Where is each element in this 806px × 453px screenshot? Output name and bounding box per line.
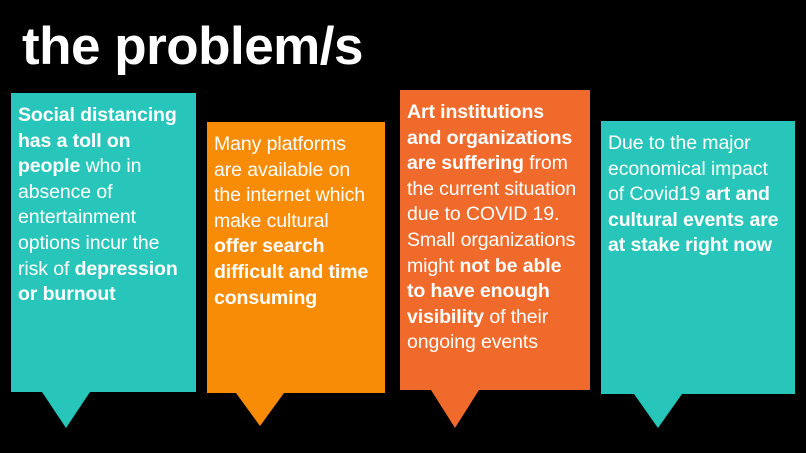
problem-card-4: Due to the major economical impact of Co… <box>601 121 795 394</box>
problem-card-3-text: Art institutions and organizations are s… <box>407 100 581 356</box>
problem-card-3-pointer <box>431 390 479 428</box>
problem-card-3: Art institutions and organizations are s… <box>400 90 590 390</box>
problem-card-2-text: Many platforms are available on the inte… <box>214 132 376 311</box>
problem-card-1: Social distancing has a toll on people w… <box>11 93 196 392</box>
presentation-slide: the problem/s Social distancing has a to… <box>0 0 806 453</box>
problem-card-4-text: Due to the major economical impact of Co… <box>608 131 786 259</box>
problem-card-2-pointer <box>236 393 284 426</box>
problem-card-1-text: Social distancing has a toll on people w… <box>18 103 187 308</box>
problem-card-2: Many platforms are available on the inte… <box>207 122 385 393</box>
problem-card-4-pointer <box>634 394 682 428</box>
problem-card-1-pointer <box>42 392 90 428</box>
page-title: the problem/s <box>22 18 363 76</box>
